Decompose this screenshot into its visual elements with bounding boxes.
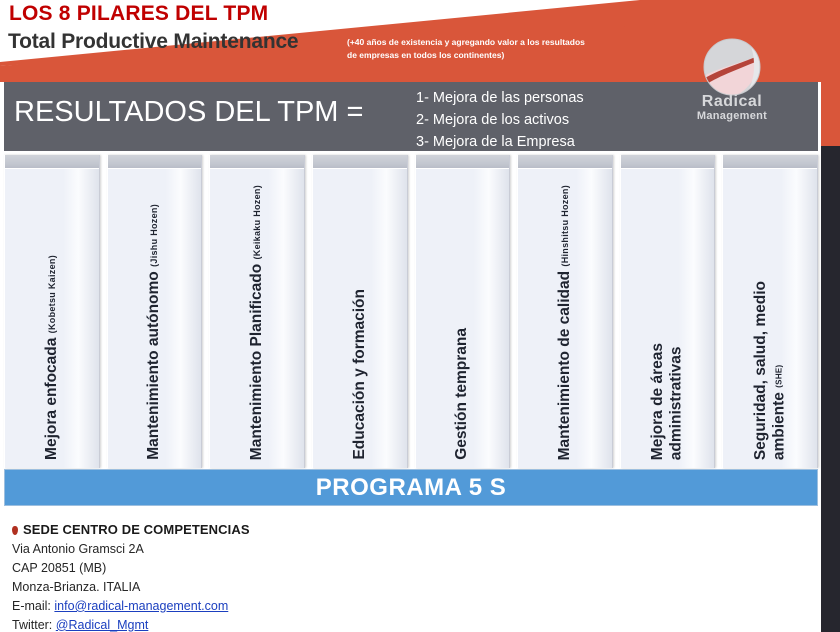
pillar-2[interactable]: Mantenimiento autónomo (Jishu Hozen) [107,155,203,468]
footer: SEDE CENTRO DE COMPETENCIAS Via Antonio … [0,508,821,632]
pillar-6[interactable]: Mantenimiento de calidad (Hinshitsu Hoze… [517,155,613,468]
results-item-2: 2- Mejora de los activos [416,109,584,131]
pillar-cap [108,155,202,169]
pillar-4[interactable]: Educación y formación [312,155,408,468]
pillar-subtitle: (Jishu Hozen) [149,204,159,267]
address-line-2: CAP 20851 (MB) [12,559,250,578]
pillar-cap [518,155,612,169]
base-bar-programa-5s[interactable]: PROGRAMA 5 S [4,469,818,506]
pillar-title: Gestión temprana [453,328,470,460]
page-subtitle: Total Productive Maintenance [8,30,298,54]
results-item-1: 1- Mejora de las personas [416,87,584,109]
pillar-body: Seguridad, salud, medio ambiente (SHE) [723,169,817,468]
base-bar-label: PROGRAMA 5 S [316,474,506,502]
pillar-title: Mejora enfocada [43,338,60,460]
pillar-cap [210,155,304,169]
results-title: RESULTADOS DEL TPM = [14,96,363,129]
pillar-title-2: ambiente (SHE) [770,281,788,460]
logo-line-2: Management [672,111,792,123]
header-note: (+40 años de existencia y agregando valo… [347,36,597,62]
pillar-label: Educación y formación [351,289,369,460]
right-edge-strip-dark [821,146,840,632]
pillar-cap [313,155,407,169]
pillar-title: Educación y formación [351,289,368,460]
logo-wordmark: Radical Management [672,94,792,122]
pillar-title-2: administrativas [668,343,686,460]
pillar-body: Mantenimiento de calidad (Hinshitsu Hoze… [518,169,612,468]
location-pin-icon [12,526,18,535]
pillar-body: Mejora de áreas administrativas [621,169,715,468]
pillar-cap [621,155,715,169]
pillar-title: Mantenimiento autónomo [145,271,162,460]
email-link[interactable]: info@radical-management.com [54,599,228,613]
pillars-row: Mejora enfocada (Kobetsu Kaizen) Manteni… [4,155,818,468]
twitter-link[interactable]: @Radical_Mgmt [56,618,149,632]
pillar-label: Mantenimiento Planificado (Keikaku Hozen… [248,185,266,460]
twitter-line: Twitter: @Radical_Mgmt [12,616,250,632]
pillar-subtitle: (Hinshitsu Hozen) [560,185,570,267]
address-heading: SEDE CENTRO DE COMPETENCIAS [12,520,250,540]
pillar-8[interactable]: Seguridad, salud, medio ambiente (SHE) [722,155,818,468]
radical-management-logo: Radical Management [672,38,792,130]
pillar-subtitle: (Kobetsu Kaizen) [47,255,57,333]
right-edge-strip-orange [821,0,840,146]
page-title-red: LOS 8 PILARES DEL TPM [9,2,268,26]
pillar-label: Mantenimiento de calidad (Hinshitsu Hoze… [556,185,574,460]
pillar-label: Mantenimiento autónomo (Jishu Hozen) [145,204,163,460]
pillar-subtitle: (Keikaku Hozen) [252,185,262,260]
infographic-canvas: LOS 8 PILARES DEL TPM Total Productive M… [0,0,840,632]
pillar-title: Mejora de áreas [649,343,667,460]
pillar-cap [5,155,99,169]
pillar-subtitle: (SHE) [774,364,783,387]
logo-sphere-icon [672,38,792,100]
pillar-label: Mejora de áreas administrativas [649,343,686,460]
address-block: SEDE CENTRO DE COMPETENCIAS Via Antonio … [12,520,250,632]
pillar-body: Gestión temprana [416,169,510,468]
pillar-cap [416,155,510,169]
results-list: 1- Mejora de las personas 2- Mejora de l… [416,87,584,154]
pillar-cap [723,155,817,169]
pillar-7[interactable]: Mejora de áreas administrativas [620,155,716,468]
pillar-label: Gestión temprana [453,328,471,460]
pillar-label: Mejora enfocada (Kobetsu Kaizen) [43,255,61,460]
pillar-title: Mantenimiento Planificado [248,264,265,460]
pillar-5[interactable]: Gestión temprana [415,155,511,468]
pillar-title: Mantenimiento de calidad [556,271,573,460]
pillar-title: Seguridad, salud, medio [752,281,770,460]
pillar-body: Educación y formación [313,169,407,468]
results-item-3: 3- Mejora de la Empresa [416,131,584,153]
pillar-1[interactable]: Mejora enfocada (Kobetsu Kaizen) [4,155,100,468]
address-line-1: Via Antonio Gramsci 2A [12,540,250,559]
pillar-body: Mantenimiento Planificado (Keikaku Hozen… [210,169,304,468]
pillar-3[interactable]: Mantenimiento Planificado (Keikaku Hozen… [209,155,305,468]
pillar-label: Seguridad, salud, medio ambiente (SHE) [752,281,789,460]
address-line-3: Monza-Brianza. ITALIA [12,578,250,597]
twitter-label: Twitter: [12,618,52,632]
email-line: E-mail: info@radical-management.com [12,597,250,616]
email-label: E-mail: [12,599,51,613]
pillar-body: Mantenimiento autónomo (Jishu Hozen) [108,169,202,468]
pillar-body: Mejora enfocada (Kobetsu Kaizen) [5,169,99,468]
logo-line-1: Radical [672,94,792,111]
